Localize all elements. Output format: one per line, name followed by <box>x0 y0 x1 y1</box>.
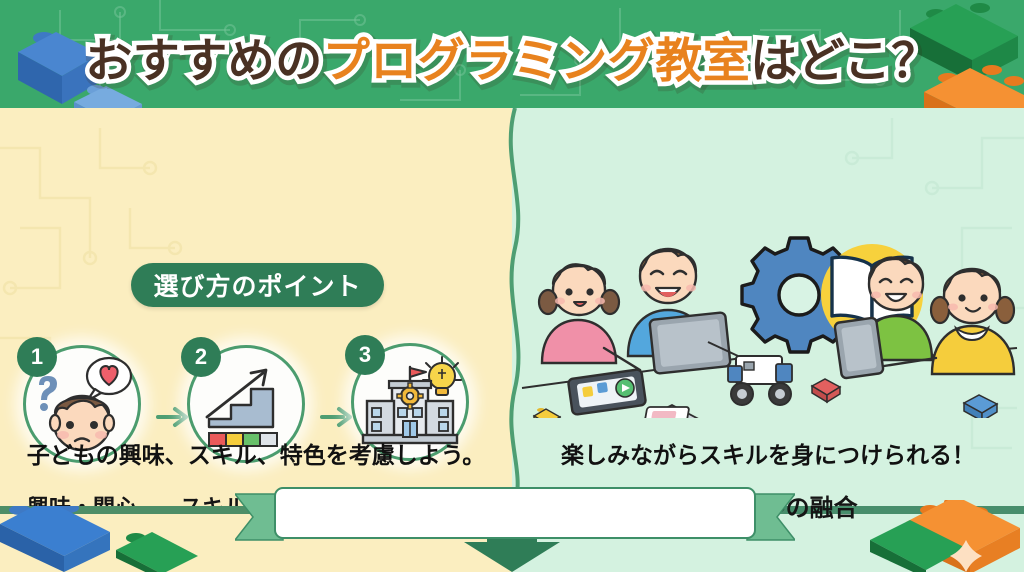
boy-with-tablet-icon <box>628 249 738 374</box>
header-banner: おすすめのプログラミング教室はどこ？ おすすめのプログラミング教室はどこ？ <box>0 0 1024 112</box>
step-1-number: 1 <box>17 337 57 377</box>
arrow-right-icon <box>155 404 189 430</box>
lego-robot-icon <box>632 405 710 418</box>
page-title: おすすめのプログラミング教室はどこ？ <box>0 0 1024 112</box>
infographic-root: おすすめのプログラミング教室はどこ？ おすすめのプログラミング教室はどこ？ <box>0 0 1024 572</box>
title-part1-text: おすすめの <box>85 34 323 87</box>
lego-robot-icon <box>728 356 792 405</box>
step-2-number: 2 <box>181 337 221 377</box>
step-1-caption: 興味・関心 <box>22 490 142 506</box>
step-3-number: 3 <box>345 335 385 375</box>
green-lego-brick <box>112 532 232 572</box>
right-panel-summary: 楽しみながらスキルを身につけられる！ <box>512 436 1024 470</box>
left-panel-summary: 子どもの興味、スキル、特色を考慮しよう。 <box>0 436 512 470</box>
title-highlight-text: プログラミング教室 <box>323 34 751 87</box>
lego-classroom-scene <box>512 198 1024 418</box>
arrow-right-icon <box>319 404 353 430</box>
left-panel-heading: 選び方のポイント <box>131 263 384 307</box>
ribbon-banner <box>235 486 795 548</box>
title-part2-text: はどこ？ <box>750 34 939 87</box>
